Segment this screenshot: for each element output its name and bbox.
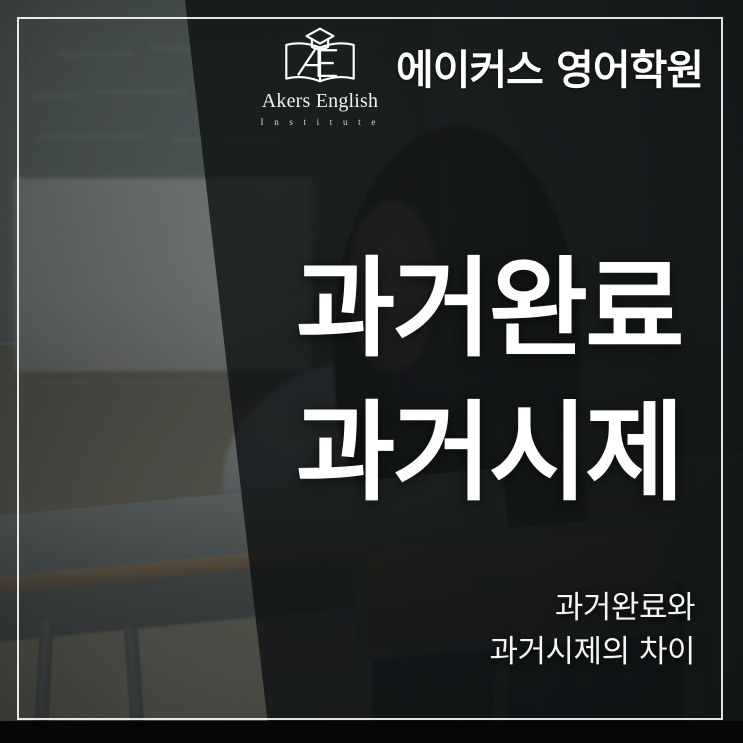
page-subtitle: 과거완료와 과거시제의 차이: [490, 586, 696, 674]
subtitle-line-1: 과거완료와: [490, 586, 696, 630]
open-book-graduation-cap-icon: [279, 26, 361, 88]
title-line-1: 과거완료: [296, 238, 681, 382]
bottom-band: [0, 721, 743, 743]
brand-name-korean: 에이커스 영어학원: [396, 50, 703, 91]
logo-wordmark: Akers English: [262, 91, 378, 111]
poster-card: Akers English I n s t i t u t e 에이커스 영어학…: [0, 0, 743, 743]
logo-lockup: Akers English I n s t i t u t e: [258, 26, 382, 127]
page-title: 과거완료 과거시제: [296, 238, 681, 525]
logo-subtitle: I n s t i t u t e: [261, 117, 380, 127]
brand-header: Akers English I n s t i t u t e 에이커스 영어학…: [258, 26, 703, 127]
title-line-2: 과거시제: [296, 382, 681, 526]
subtitle-line-2: 과거시제의 차이: [490, 630, 696, 674]
